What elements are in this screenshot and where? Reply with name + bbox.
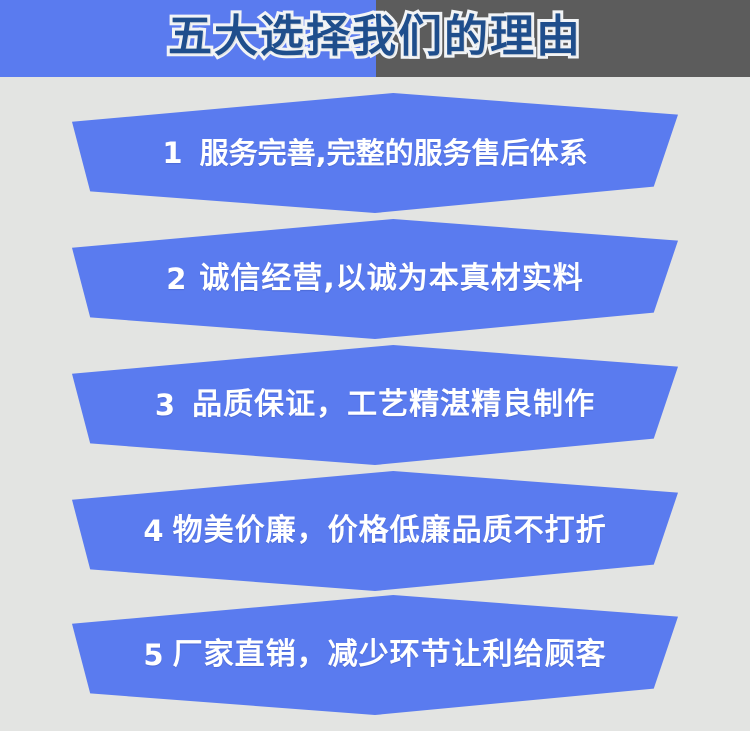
reason-index: 2 [166, 265, 187, 294]
reason-banner-5: 5 厂家直销，减少环节让利给顾客 [72, 595, 678, 715]
reason-index: 4 [143, 517, 164, 546]
list-item: 3 品质保证，工艺精湛精良制作 [0, 345, 750, 465]
reason-banner-4: 4 物美价廉，价格低廉品质不打折 [72, 471, 678, 591]
reason-label: 诚信经营,以诚为本真材实料 [199, 264, 583, 294]
list-item: 4 物美价廉，价格低廉品质不打折 [0, 471, 750, 591]
banner-content: 5 厂家直销，减少环节让利给顾客 [72, 595, 678, 715]
banner-content: 1 服务完善,完整的服务售后体系 [72, 93, 678, 213]
reason-index: 5 [143, 641, 164, 670]
list-item: 5 厂家直销，减少环节让利给顾客 [0, 595, 750, 715]
reason-label: 服务完善,完整的服务售后体系 [200, 139, 588, 168]
list-item: 1 服务完善,完整的服务售后体系 [0, 93, 750, 213]
page-title: 五大选择我们的理由 [0, 0, 750, 77]
reason-banner-1: 1 服务完善,完整的服务售后体系 [72, 93, 678, 213]
banner-content: 4 物美价廉，价格低廉品质不打折 [72, 471, 678, 591]
header-banner: 五大选择我们的理由 [0, 0, 750, 77]
banner-content: 3 品质保证，工艺精湛精良制作 [72, 345, 678, 465]
reasons-list: 1 服务完善,完整的服务售后体系 2 诚信经营,以诚为本真材实料 3 品质保证，… [0, 77, 750, 731]
reason-label: 品质保证，工艺精湛精良制作 [192, 390, 595, 420]
reason-index: 3 [155, 391, 176, 420]
reason-label: 物美价廉，价格低廉品质不打折 [173, 516, 607, 546]
reason-banner-2: 2 诚信经营,以诚为本真材实料 [72, 219, 678, 339]
list-item: 2 诚信经营,以诚为本真材实料 [0, 219, 750, 339]
reason-label: 厂家直销，减少环节让利给顾客 [173, 640, 607, 670]
reason-banner-3: 3 品质保证，工艺精湛精良制作 [72, 345, 678, 465]
banner-content: 2 诚信经营,以诚为本真材实料 [72, 219, 678, 339]
reason-index: 1 [162, 139, 183, 168]
